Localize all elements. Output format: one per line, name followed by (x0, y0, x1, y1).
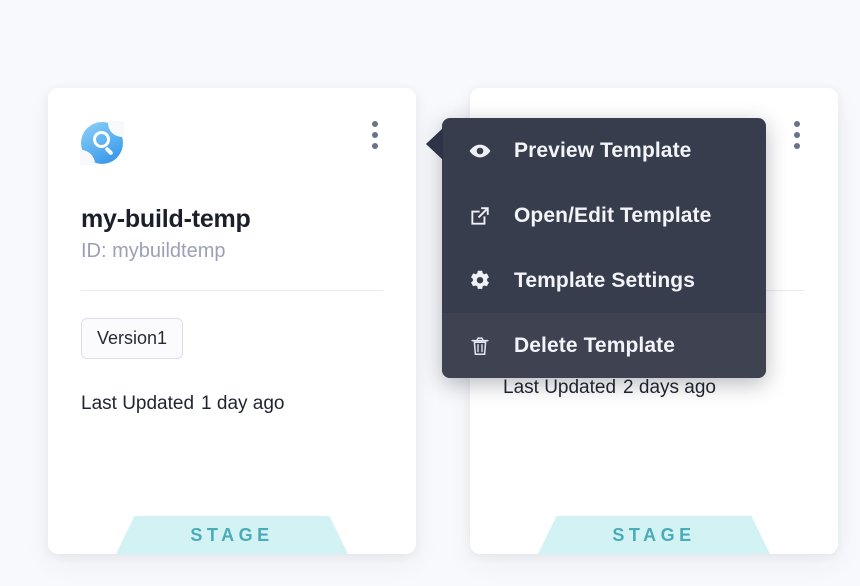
menu-item-label: Delete Template (514, 334, 675, 358)
external-link-icon (468, 204, 498, 228)
menu-item-delete-template[interactable]: Delete Template (442, 313, 766, 378)
kebab-dot (372, 132, 378, 138)
kebab-dot (372, 121, 378, 127)
kebab-dot (372, 143, 378, 149)
menu-item-label: Preview Template (514, 139, 691, 163)
kebab-dot (794, 143, 800, 149)
kebab-dot (794, 132, 800, 138)
context-menu: Preview Template Open/Edit Template Temp… (442, 118, 766, 378)
version-chip[interactable]: Version1 (81, 318, 183, 359)
kebab-dot (794, 121, 800, 127)
menu-item-label: Template Settings (514, 269, 695, 293)
search-globe-logo-icon (81, 122, 123, 164)
trash-icon (468, 334, 498, 358)
kebab-menu-icon[interactable] (784, 118, 810, 152)
menu-pointer-arrow (426, 128, 443, 160)
card-id: ID: mybuildtemp (81, 240, 383, 263)
last-updated-label: Last Updated (503, 377, 616, 398)
gear-icon (468, 269, 498, 293)
menu-item-open-edit-template[interactable]: Open/Edit Template (442, 183, 766, 248)
last-updated: Last Updated1 day ago (81, 393, 416, 415)
kebab-menu-icon[interactable] (362, 118, 388, 152)
stage-ribbon-wrap: STAGE (48, 510, 416, 554)
template-card-left[interactable]: my-build-temp ID: mybuildtemp Version1 L… (48, 88, 416, 554)
menu-item-label: Open/Edit Template (514, 204, 711, 228)
status-badge: STAGE (538, 516, 770, 554)
last-updated-label: Last Updated (81, 393, 194, 414)
status-badge: STAGE (116, 516, 348, 554)
menu-item-preview-template[interactable]: Preview Template (442, 118, 766, 183)
menu-item-template-settings[interactable]: Template Settings (442, 248, 766, 313)
stage-ribbon-wrap: STAGE (470, 510, 838, 554)
last-updated: Last Updated2 days ago (503, 377, 838, 399)
card-title: my-build-temp (81, 205, 383, 234)
eye-icon (468, 139, 498, 163)
last-updated-value: 1 day ago (201, 393, 284, 414)
last-updated-value: 2 days ago (623, 377, 716, 398)
card-header: my-build-temp ID: mybuildtemp (48, 88, 416, 263)
